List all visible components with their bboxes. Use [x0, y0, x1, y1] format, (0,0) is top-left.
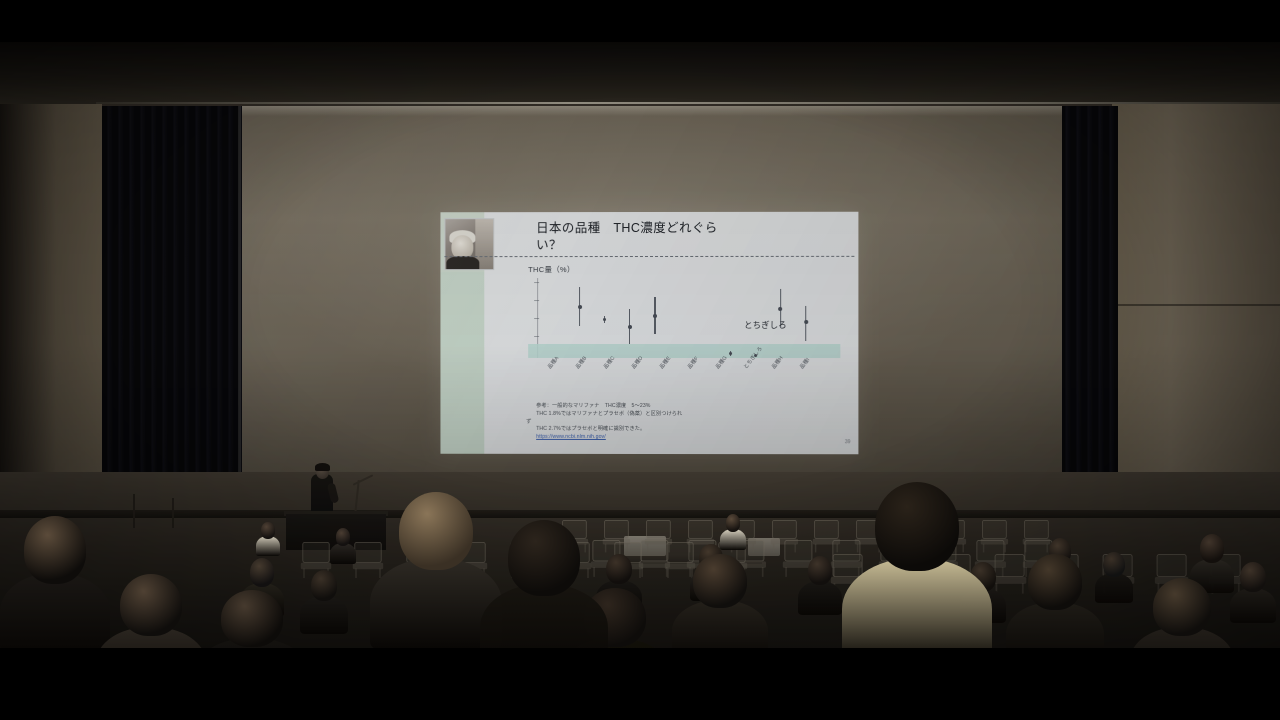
ceiling-trim-line	[96, 102, 1280, 104]
audience-head	[508, 520, 580, 596]
audience-shoulders	[1095, 573, 1133, 603]
presenter-webcam-inset	[444, 218, 494, 270]
microphone-stand	[133, 494, 135, 528]
chair-leg	[667, 568, 668, 578]
footnote-line-2: THC 1.8%ではマリファナとプラセボ（偽薬）と区別つけられ	[536, 410, 848, 418]
audience-head	[24, 516, 86, 584]
stage-curtain-right	[1060, 106, 1118, 512]
letterbox-top	[0, 0, 1280, 42]
slide-footnote: 参考：一般的なマリファナ THC濃度 5〜23% THC 1.8%ではマリファナ…	[536, 402, 848, 441]
chair-back	[1157, 554, 1187, 577]
chair-back	[814, 520, 838, 539]
audience-shoulders	[330, 543, 356, 564]
audience-head	[606, 554, 632, 584]
footnote-hanging-char: ず	[526, 418, 531, 426]
audience-head	[261, 522, 274, 539]
chart-data-point	[779, 307, 783, 311]
chair-leg	[762, 567, 763, 577]
chair-leg	[773, 544, 774, 553]
slide-title-line-1: 日本の品種 THC濃度どれぐら	[536, 221, 718, 235]
slide-title: 日本の品種 THC濃度どれぐら い？	[536, 220, 846, 254]
empty-chair	[664, 542, 696, 577]
chart-y-tick	[534, 300, 539, 301]
chart-annotation: とちぎしろ	[744, 320, 804, 330]
chart-data-point	[653, 313, 657, 317]
chart-data-point	[804, 320, 808, 324]
chair-back	[982, 520, 1006, 539]
audience-head	[336, 528, 351, 546]
chair-leg	[587, 568, 588, 578]
stage-front-edge	[0, 510, 1280, 518]
audience-shoulders	[256, 536, 280, 556]
chair-leg	[815, 544, 816, 553]
chair-back	[995, 554, 1025, 577]
wall-left-pillar	[0, 42, 102, 512]
chair-leg	[639, 568, 640, 578]
chart-y-axis-label: THC量（%）	[528, 264, 575, 275]
chart-y-tick	[534, 318, 539, 319]
chair-leg	[303, 568, 304, 578]
audience-shoulders	[842, 558, 992, 648]
chair-back	[354, 542, 381, 563]
chair-leg	[785, 567, 786, 577]
empty-chair	[992, 554, 1027, 593]
audience-head	[1103, 552, 1124, 577]
video-frame: 日本の品種 THC濃度どれぐら い？ THC量（%） とちぎしろ 品種A品種B品…	[0, 0, 1280, 720]
chart-plot-area: とちぎしろ	[536, 278, 836, 368]
audience-head	[808, 556, 833, 585]
lecture-hall-scene: 日本の品種 THC濃度どれぐら い？ THC量（%） とちぎしろ 品種A品種B品…	[0, 42, 1280, 648]
audience-shoulders	[720, 529, 746, 550]
chair-back	[646, 520, 670, 539]
audience-head	[726, 514, 741, 532]
footnote-source-link[interactable]: https://www.ncbi.nlm.nih.gov/	[536, 433, 848, 441]
audience-head	[1153, 578, 1211, 636]
chair-back	[604, 520, 628, 539]
audience-shoulders	[0, 573, 110, 648]
chart-data-point	[729, 352, 732, 355]
audience-head	[120, 574, 182, 636]
chair-leg	[355, 568, 356, 578]
chair-back	[772, 520, 796, 539]
wall-right-pillar	[1112, 42, 1280, 512]
audience-head	[221, 590, 284, 647]
audience-shoulders	[300, 596, 348, 633]
audience-head	[399, 492, 473, 570]
audience-shoulders	[1230, 588, 1276, 624]
chair-back	[1024, 520, 1048, 539]
chart-y-tick	[534, 282, 539, 283]
chair-back	[666, 542, 693, 563]
chart-x-axis-labels: 品種A品種B品種C品種D品種E品種F品種Gとちぎしろ品種H品種I	[536, 364, 836, 400]
stage-curtain-left	[102, 106, 242, 512]
chart-highlight-band	[528, 344, 840, 358]
audience-head	[1028, 554, 1083, 610]
chart-y-tick	[534, 336, 539, 337]
letterbox-bottom	[0, 648, 1280, 720]
audience-head	[1240, 562, 1266, 592]
audience-shoulders	[798, 581, 842, 616]
chair-back	[833, 554, 863, 577]
audience-head	[1200, 534, 1225, 563]
chart-data-point	[578, 305, 582, 309]
chair-back	[784, 540, 812, 561]
chair-leg	[593, 567, 594, 577]
audience-head	[250, 558, 275, 587]
chart-data-point	[628, 325, 632, 329]
ceiling	[0, 42, 1280, 104]
chair-back	[688, 520, 712, 539]
audience-head	[875, 482, 959, 571]
chart-data-point	[603, 318, 606, 321]
chair-leg	[962, 544, 963, 553]
webcam-person-body	[446, 256, 479, 270]
projected-slide: 日本の品種 THC濃度どれぐら い？ THC量（%） とちぎしろ 品種A品種B品…	[440, 212, 858, 455]
curtain-edge-highlight	[238, 106, 241, 512]
microphone-stand	[172, 498, 174, 528]
footnote-line-1: 参考：一般的なマリファナ THC濃度 5〜23%	[536, 402, 848, 410]
audience-head	[311, 570, 338, 601]
slide-title-line-2: い？	[536, 237, 846, 254]
presenter-hair	[315, 463, 330, 471]
chair-leg	[1022, 583, 1023, 594]
slide-page-number: 39	[845, 439, 851, 445]
chair-back	[302, 542, 329, 563]
slide-accent-panel-lower	[440, 272, 484, 454]
slide-divider	[444, 256, 854, 257]
empty-chair	[352, 542, 384, 577]
audience-head	[693, 554, 747, 608]
